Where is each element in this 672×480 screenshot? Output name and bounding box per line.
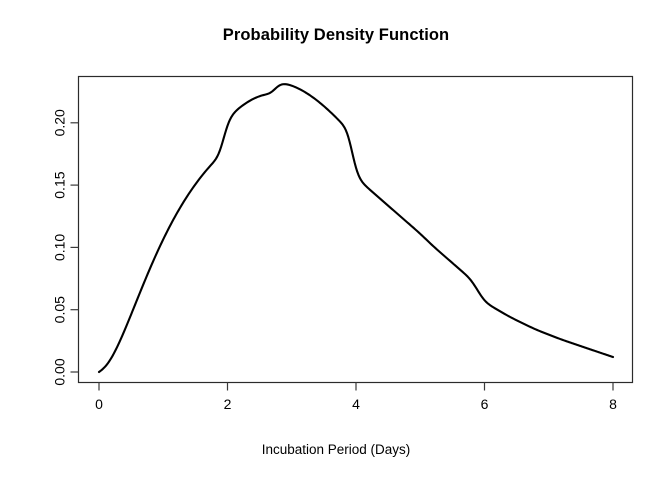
y-axis-tick-labels: 0.00 0.05 0.10 0.15 0.20	[52, 109, 68, 386]
y-tick-label-000: 0.00	[52, 358, 68, 385]
x-axis-tick-labels: 0 2 4 6 8	[95, 396, 617, 412]
density-curve	[99, 84, 613, 372]
x-tick-label-2: 2	[224, 396, 232, 412]
plot-frame-box	[79, 77, 633, 383]
y-tick-label-010: 0.10	[52, 234, 68, 261]
x-tick-label-4: 4	[352, 396, 360, 412]
chart-canvas: 0 2 4 6 8 0.00 0.05 0.10 0.15 0.20 Incub…	[0, 0, 672, 480]
x-axis-title: Incubation Period (Days)	[262, 442, 411, 457]
x-axis-ticks	[99, 383, 613, 391]
x-tick-label-0: 0	[95, 396, 103, 412]
y-tick-label-005: 0.05	[52, 296, 68, 323]
y-tick-label-015: 0.15	[52, 171, 68, 198]
x-tick-label-8: 8	[609, 396, 617, 412]
x-tick-label-6: 6	[481, 396, 489, 412]
y-tick-label-020: 0.20	[52, 109, 68, 136]
plot-figure: Probability Density Function 0 2 4 6 8	[0, 0, 672, 480]
y-axis-ticks	[71, 123, 79, 372]
